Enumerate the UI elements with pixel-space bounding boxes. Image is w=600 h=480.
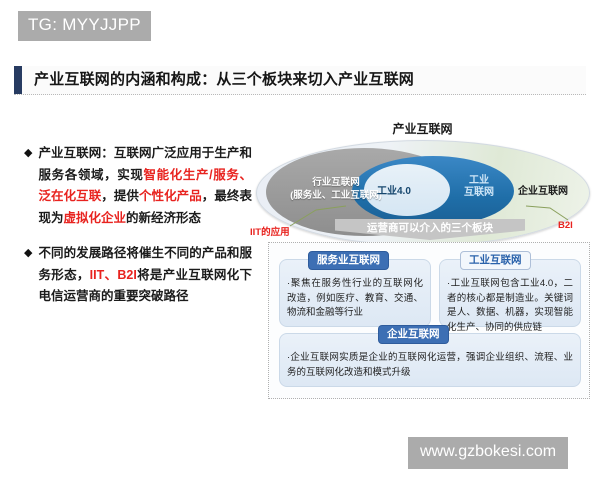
label-industrial-internet-line2: 互联网 bbox=[464, 187, 494, 198]
card-industrial-internet: 工业互联网 ·工业互联网包含工业4.0，二者的核心都是制造业。关键词是人、数据、… bbox=[439, 259, 581, 327]
label-industry-internet-line2: (服务业、工业互联网) bbox=[290, 190, 382, 201]
card-title-industrial-internet: 工业互联网 bbox=[460, 251, 531, 270]
callout-iit-application: IIT的应用 bbox=[250, 224, 290, 238]
bullet-list: ◆ 产业互联网：互联网广泛应用于生产和服务各领域，实现智能化生产/服务、泛在化互… bbox=[24, 143, 252, 322]
bullet-diamond-icon: ◆ bbox=[24, 243, 32, 308]
card-enterprise-internet: 企业互联网 ·企业互联网实质是企业的互联网化运营，强调企业组织、流程、业务的互联… bbox=[279, 333, 581, 387]
card-title-service-internet: 服务业互联网 bbox=[308, 251, 389, 270]
card-service-internet: 服务业互联网 ·聚焦在服务性行业的互联网化改造，例如医疗、教育、交通、物流和金融… bbox=[279, 259, 431, 327]
card-title-enterprise-internet: 企业互联网 bbox=[378, 325, 449, 344]
page-title: 产业互联网的内涵和构成：从三个板块来切入产业互联网 bbox=[34, 68, 414, 89]
bullet-segment-highlight: 虚拟化企业 bbox=[63, 211, 126, 225]
card-body-text: 聚焦在服务性行业的互联网化改造，例如医疗、教育、交通、物流和金融等行业 bbox=[287, 278, 423, 318]
diagram-title: 产业互联网 bbox=[250, 120, 595, 137]
list-item: ◆ 不同的发展路径将催生不同的产品和服务形态，IIT、B2I将是产业互联网化下电… bbox=[24, 243, 252, 308]
slide-canvas: TG: MYYJJPP 产业互联网的内涵和构成：从三个板块来切入产业互联网 ◆ … bbox=[0, 0, 600, 480]
label-industry-internet-line1: 行业互联网 bbox=[312, 177, 360, 188]
label-industry-4-0: 工业4.0 bbox=[377, 182, 411, 197]
cards-panel: 服务业互联网 ·聚焦在服务性行业的互联网化改造，例如医疗、教育、交通、物流和金融… bbox=[268, 242, 590, 399]
card-body-text: 企业互联网实质是企业的互联网化运营，强调企业组织、流程、业务的互联网化改造和模式… bbox=[287, 352, 573, 378]
label-industrial-internet-line1: 工业 bbox=[469, 175, 489, 186]
bullet-text-1: 产业互联网：互联网广泛应用于生产和服务各领域，实现智能化生产/服务、泛在化互联，… bbox=[38, 143, 252, 229]
watermark-bottom-right: www.gzbokesi.com bbox=[408, 437, 568, 469]
label-industrial-internet: 工业 互联网 bbox=[455, 175, 503, 199]
bullet-diamond-icon: ◆ bbox=[24, 143, 32, 229]
card-body-text: 工业互联网包含工业4.0，二者的核心都是制造业。关键词是人、数据、机器，实现智能… bbox=[447, 278, 573, 333]
card-body-service-internet: ·聚焦在服务性行业的互联网化改造，例如医疗、教育、交通、物流和金融等行业 bbox=[287, 277, 423, 321]
bullet-segment: ，提供 bbox=[101, 189, 139, 203]
watermark-top-left: TG: MYYJJPP bbox=[18, 11, 151, 41]
list-item: ◆ 产业互联网：互联网广泛应用于生产和服务各领域，实现智能化生产/服务、泛在化互… bbox=[24, 143, 252, 229]
bullet-segment: 的新经济形态 bbox=[126, 211, 201, 225]
slide-title-band: 产业互联网的内涵和构成：从三个板块来切入产业互联网 bbox=[14, 66, 586, 95]
title-accent-bar bbox=[14, 66, 22, 94]
card-body-industrial-internet: ·工业互联网包含工业4.0，二者的核心都是制造业。关键词是人、数据、机器，实现智… bbox=[447, 277, 573, 335]
bullet-text-2: 不同的发展路径将催生不同的产品和服务形态，IIT、B2I将是产业互联网化下电信运… bbox=[38, 243, 252, 308]
callout-b2i: B2I bbox=[558, 220, 573, 231]
bullet-segment-highlight: IIT、B2I bbox=[90, 268, 137, 282]
card-body-enterprise-internet: ·企业互联网实质是企业的互联网化运营，强调企业组织、流程、业务的互联网化改造和模… bbox=[287, 351, 573, 380]
label-enterprise-internet: 企业互联网 bbox=[518, 182, 568, 197]
bullet-segment-highlight: 个性化产品 bbox=[139, 189, 202, 203]
